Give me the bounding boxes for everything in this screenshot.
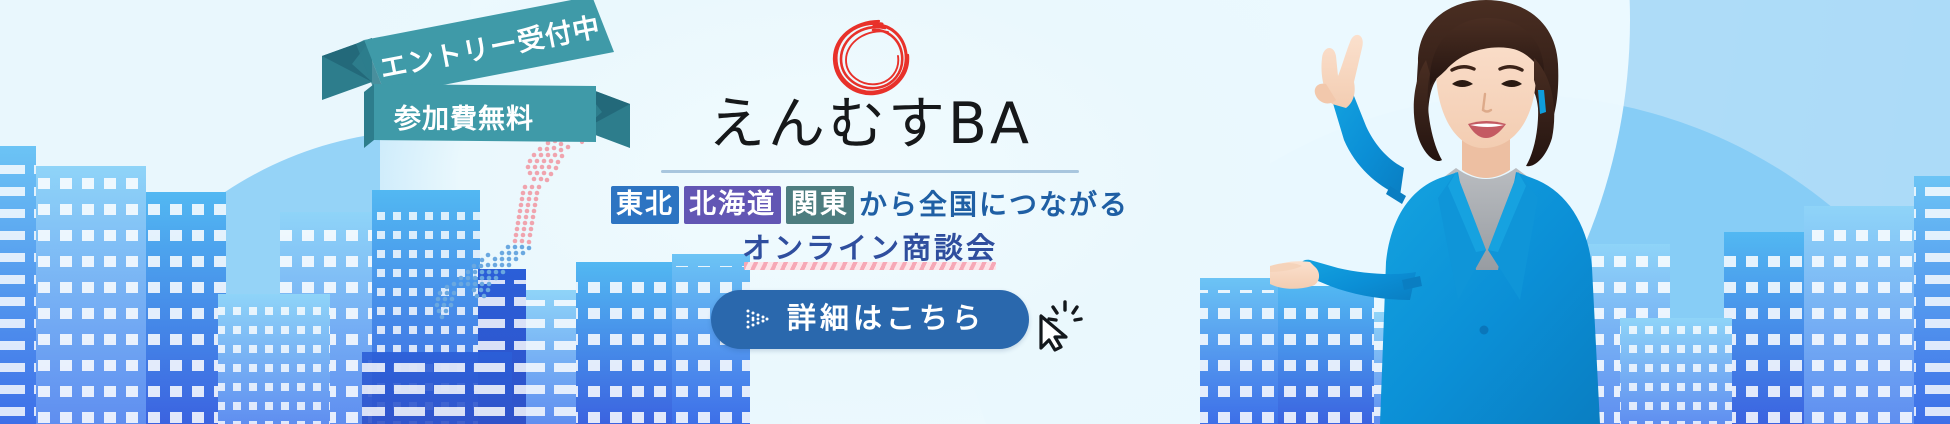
region-badge-tohoku: 東北 bbox=[611, 186, 679, 224]
region-badge-hokkaido: 北海道 bbox=[684, 186, 781, 224]
promo-banner: エントリー受付中 参加費無料 えんむすBA 東北 北海道 bbox=[0, 0, 1950, 424]
divider bbox=[661, 170, 1079, 173]
red-brush-circle-icon bbox=[822, 14, 918, 100]
logo-wordmark: えんむすBA bbox=[708, 96, 1032, 153]
region-badge-kanto: 関東 bbox=[786, 186, 854, 224]
subline-wrapper: オンライン商談会 bbox=[742, 234, 998, 270]
details-button-label: 詳細はこちら bbox=[787, 304, 985, 333]
center-content: えんむすBA 東北 北海道 関東 から全国につながる オンライン商談会 bbox=[590, 0, 1150, 424]
tagline-row: 東北 北海道 関東 から全国につながる bbox=[611, 186, 1129, 224]
subline-text: オンライン商談会 bbox=[742, 234, 998, 263]
mouse-pointer-click-icon bbox=[1031, 296, 1085, 352]
subline-underline bbox=[744, 262, 996, 270]
entry-ribbon: エントリー受付中 参加費無料 bbox=[330, 8, 630, 153]
dotted-chevron-right-icon bbox=[745, 308, 771, 330]
details-button[interactable]: 詳細はこちら bbox=[711, 290, 1029, 349]
ribbon-line2: 参加費無料 bbox=[393, 104, 534, 134]
tagline-tail: から全国につながる bbox=[859, 191, 1129, 219]
cta-row: 詳細はこちら bbox=[711, 290, 1029, 349]
